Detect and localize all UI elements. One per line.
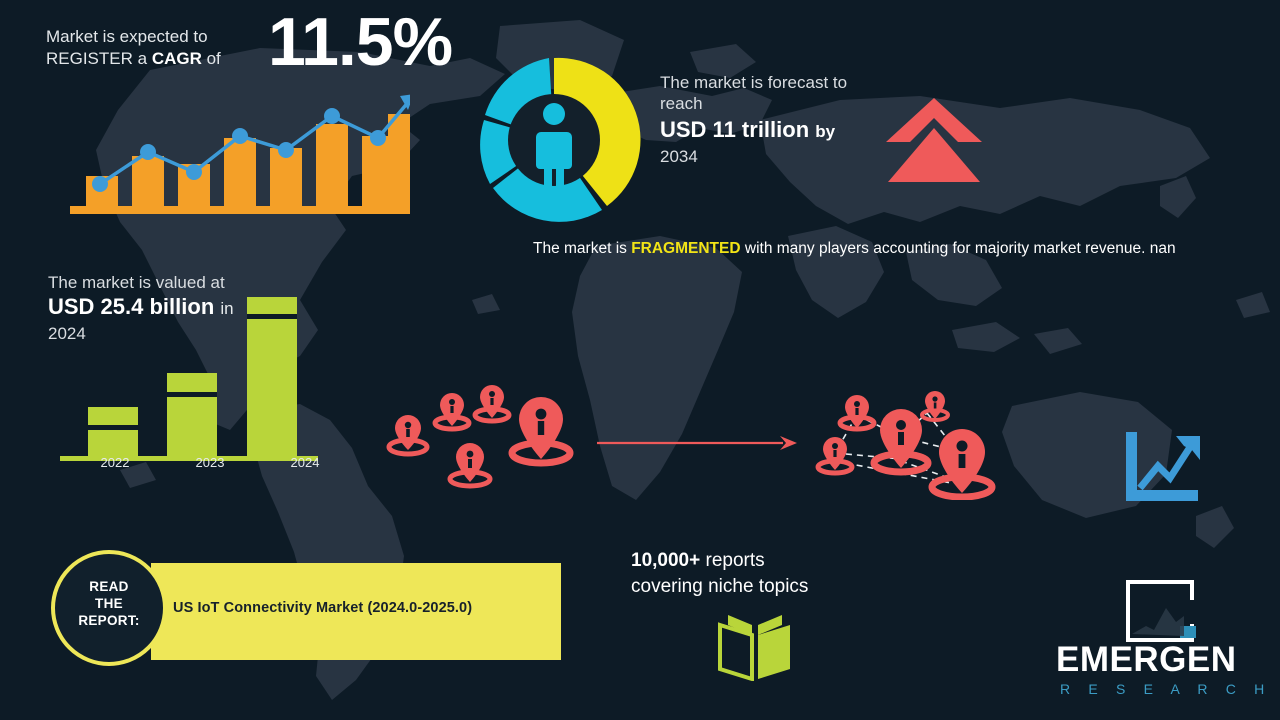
up-arrows-icon: [884, 96, 984, 184]
forecast-caption: The market is forecast to reach: [660, 72, 890, 114]
forecast-value-suffix: by: [815, 122, 835, 141]
green-chart-label-2023: 2023: [180, 455, 240, 470]
forecast-block: The market is forecast to reach USD 11 t…: [660, 72, 890, 167]
map-pin: [818, 437, 852, 473]
map-pins-cluster-left: [386, 385, 586, 490]
map-pin: [450, 443, 490, 486]
emergen-logo-mark: [1124, 578, 1196, 644]
cagr-growth-bar-chart: [70, 88, 410, 218]
read-line-1: READ: [89, 579, 128, 594]
open-book-icon: [718, 613, 794, 681]
forecast-year: 2034: [660, 146, 890, 167]
read-line-2: THE: [95, 596, 123, 611]
market-share-donut-chart: [466, 52, 642, 228]
green-bar-2023: [167, 373, 217, 457]
map-pin: [840, 395, 874, 429]
forecast-value: USD 11 trillion: [660, 117, 809, 142]
read-report-label: READ THE REPORT:: [51, 578, 167, 629]
cagr-line2-pre: REGISTER a: [46, 49, 152, 68]
green-bar-2024: [247, 297, 297, 457]
logo-wordmark: EMERGEN: [1056, 641, 1236, 679]
cagr-line2-bold: CAGR: [152, 49, 202, 68]
report-title: US IoT Connectivity Market (2024.0-2025.…: [173, 600, 553, 616]
infographic-canvas: Market is expected to REGISTER a CAGR of…: [0, 0, 1280, 720]
growth-chart-icon: [1122, 430, 1204, 506]
reports-count-rest: reports: [700, 550, 764, 571]
cagr-block: Market is expected to REGISTER a CAGR of…: [46, 22, 446, 70]
cagr-caption: Market is expected to REGISTER a CAGR of: [46, 22, 236, 70]
logo-subtitle: R E S E A R C H: [1060, 681, 1271, 697]
map-pin: [475, 385, 509, 421]
fragmentation-statement: The market is FRAGMENTED with many playe…: [533, 238, 1213, 260]
bar-last: [388, 114, 410, 206]
cagr-line2-post: of: [202, 49, 221, 68]
valued-caption: The market is valued at: [48, 272, 288, 293]
map-pin: [874, 409, 928, 472]
chart-baseline: [70, 206, 410, 214]
map-pin: [922, 391, 948, 420]
map-pin: [389, 415, 427, 454]
map-pin: [435, 393, 469, 429]
fragmented-highlight: FRAGMENTED: [631, 240, 740, 257]
reports-count: 10,000+: [631, 550, 700, 571]
map-pin: [932, 429, 992, 497]
reports-subtitle: covering niche topics: [631, 576, 808, 597]
green-bar-2022: [88, 407, 138, 457]
map-pin: [512, 397, 570, 463]
market-value-bar-chart: [60, 295, 350, 470]
fragmented-pre: The market is: [533, 240, 631, 257]
fragmented-post: with many players accounting for majorit…: [741, 240, 1176, 257]
transition-arrow-icon: [597, 436, 797, 450]
green-chart-label-2022: 2022: [85, 455, 145, 470]
map-pins-cluster-right: [805, 385, 1025, 500]
cagr-line1: Market is expected to: [46, 27, 208, 46]
green-chart-label-2024: 2024: [275, 455, 335, 470]
forecast-value-row: USD 11 trillion by: [660, 116, 890, 146]
cagr-value: 11.5%: [268, 8, 452, 76]
reports-count-block: 10,000+ reports covering niche topics: [631, 548, 931, 600]
read-line-3: REPORT:: [78, 613, 139, 628]
